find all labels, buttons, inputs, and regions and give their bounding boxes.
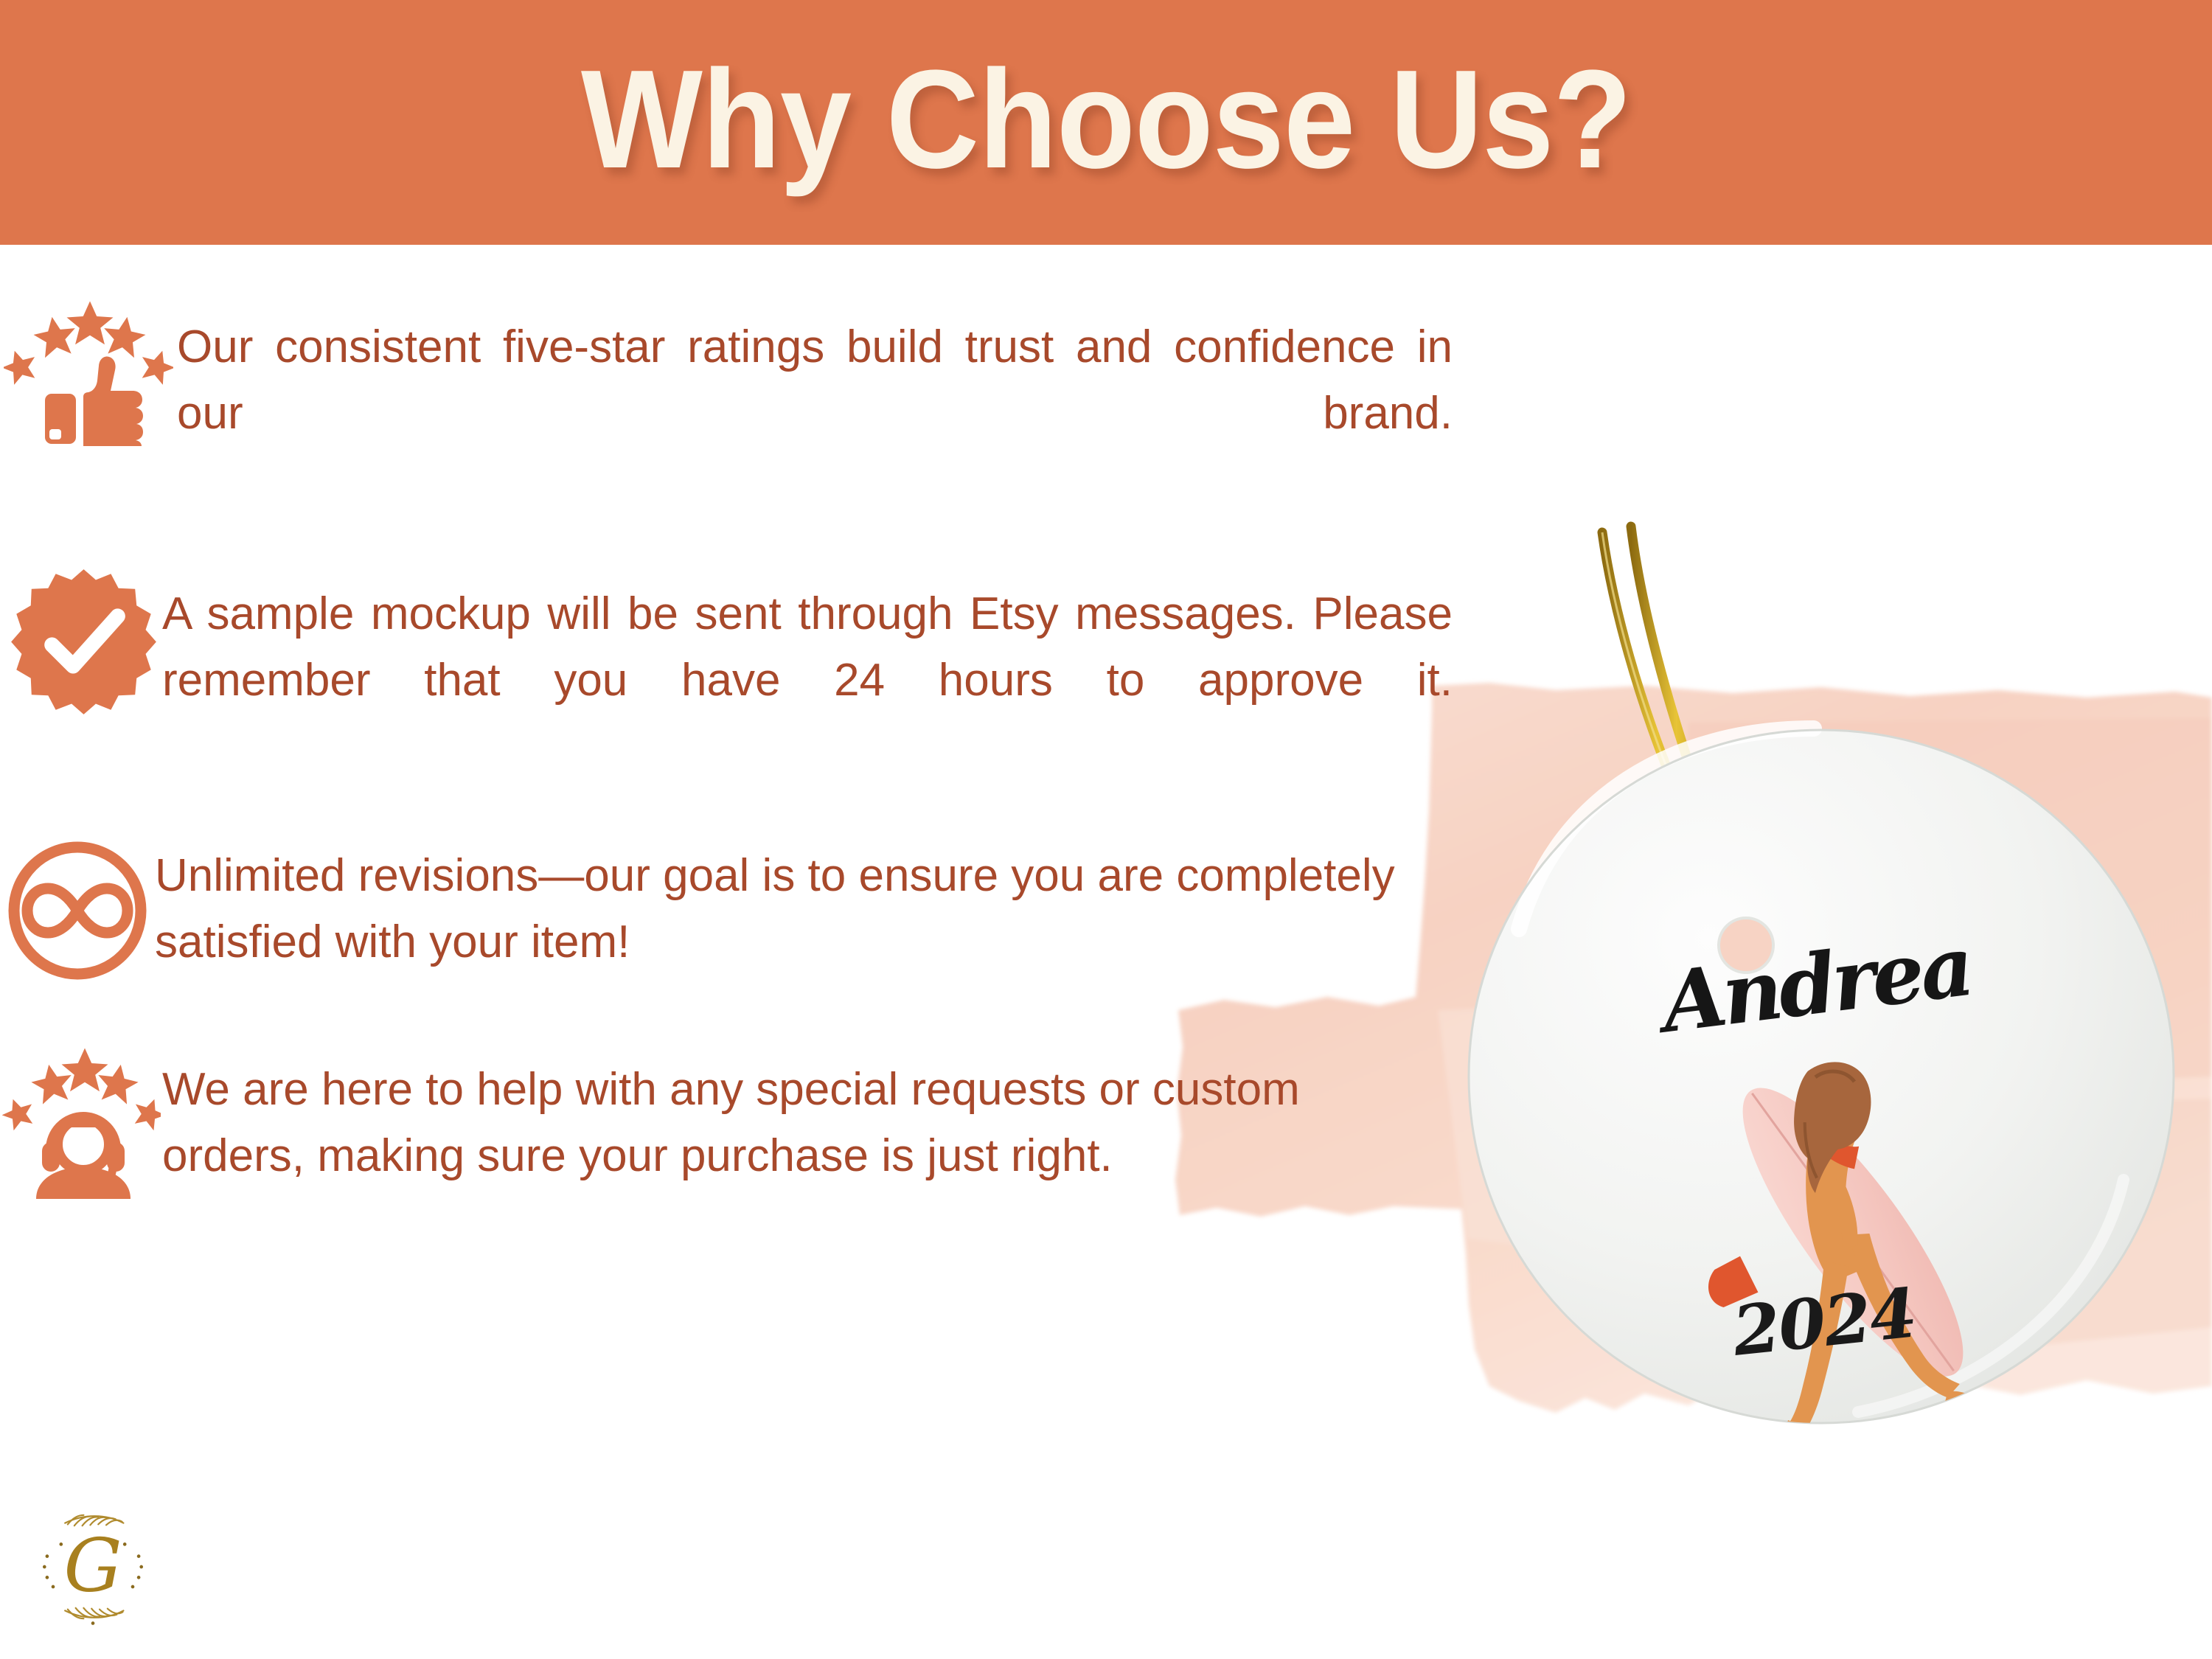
feature-text: Unlimited revisions—our goal is to ensur…: [155, 832, 1467, 975]
ornament-product-image: Andrea: [1430, 516, 2212, 1548]
ornament-hole: [1719, 918, 1773, 973]
feature-row: Unlimited revisions—our goal is to ensur…: [0, 832, 1467, 984]
ornament-disc: [1469, 730, 2174, 1423]
five-star-thumbs-up-icon: [4, 299, 173, 447]
header-banner: Why Choose Us?: [0, 0, 2212, 245]
feature-text: Our consistent five-star ratings build t…: [177, 295, 1467, 513]
verified-badge-check-icon: [8, 566, 159, 717]
feature-icon-wrapper: [0, 832, 155, 984]
feature-row: Our consistent five-star ratings build t…: [0, 295, 1467, 513]
feature-text: We are here to help with any special req…: [162, 1043, 1467, 1189]
ornament-year-label: 2024: [1728, 1273, 1919, 1371]
feature-row: A sample mockup will be sent through Ets…: [0, 562, 1467, 780]
feature-icon-wrapper: [0, 295, 177, 447]
feature-icon-wrapper: [0, 562, 162, 717]
feature-text: A sample mockup will be sent through Ets…: [162, 562, 1467, 780]
features-list: Our consistent five-star ratings build t…: [0, 295, 1467, 1199]
feature-icon-wrapper: [0, 1043, 162, 1199]
gold-cord-hanger: [1602, 526, 1745, 919]
ornament-name-text: Andrea: [1650, 918, 1975, 1052]
ornament-name-label: Andrea: [1650, 918, 1975, 1052]
page-title: Why Choose Us?: [581, 49, 1631, 189]
infinity-circle-icon: [4, 837, 151, 984]
feature-row: We are here to help with any special req…: [0, 1043, 1467, 1199]
ornament-year-text: 2024: [1728, 1273, 1919, 1371]
customer-support-headset-stars-icon: [2, 1048, 161, 1199]
surfer-girl-artwork: [1708, 1062, 1996, 1450]
logo-monogram: G: [63, 1523, 122, 1608]
brand-logo: G: [27, 1500, 159, 1633]
